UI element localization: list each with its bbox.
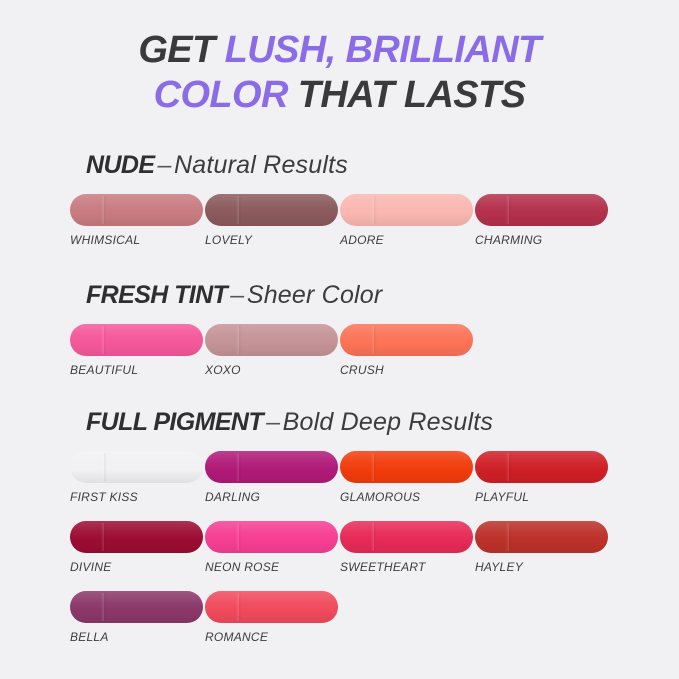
swatch-chip[interactable] — [475, 521, 608, 553]
swatch-item[interactable]: BELLA — [70, 591, 204, 644]
swatch-item[interactable]: FIRST KISS — [70, 451, 204, 504]
section-header-full-pigment: FULL PIGMENT–Bold Deep Results — [0, 407, 679, 437]
swatch-grid-full-pigment: FIRST KISS DARLING GLAMOROUS PLAYFUL DIV… — [0, 451, 679, 661]
swatch-label: FIRST KISS — [70, 490, 204, 504]
swatch-item[interactable]: PLAYFUL — [475, 451, 609, 504]
swatch-chip[interactable] — [205, 194, 338, 226]
swatch-label: GLAMOROUS — [340, 490, 474, 504]
swatch-item[interactable]: BEAUTIFUL — [70, 324, 204, 377]
swatch-item[interactable]: CRUSH — [340, 324, 474, 377]
swatch-label: NEON ROSE — [205, 560, 339, 574]
swatch-chip[interactable] — [340, 451, 473, 483]
swatch-label: ADORE — [340, 233, 474, 247]
swatch-label: WHIMSICAL — [70, 233, 204, 247]
section-dash: – — [263, 408, 283, 436]
swatch-label: XOXO — [205, 363, 339, 377]
swatch-grid-fresh-tint: BEAUTIFUL XOXO CRUSH — [0, 324, 679, 394]
section-nude: NUDE–Natural Results WHIMSICAL LOVELY AD… — [0, 150, 679, 264]
swatch-chip[interactable] — [70, 194, 203, 226]
section-header-nude: NUDE–Natural Results — [0, 150, 679, 180]
swatch-chip[interactable] — [205, 521, 338, 553]
swatch-label: HAYLEY — [475, 560, 609, 574]
swatch-chip[interactable] — [70, 591, 203, 623]
swatch-chip[interactable] — [475, 194, 608, 226]
swatch-chip[interactable] — [475, 451, 608, 483]
swatch-label: BELLA — [70, 630, 204, 644]
swatch-item[interactable]: SWEETHEART — [340, 521, 474, 574]
swatch-chip[interactable] — [340, 521, 473, 553]
swatch-item[interactable]: CHARMING — [475, 194, 609, 247]
section-dash: – — [154, 151, 174, 179]
swatch-item[interactable]: GLAMOROUS — [340, 451, 474, 504]
swatch-chip[interactable] — [205, 591, 338, 623]
swatch-item[interactable]: LOVELY — [205, 194, 339, 247]
headline-that-lasts: THAT LASTS — [288, 74, 526, 116]
swatch-chip[interactable] — [70, 324, 203, 356]
swatch-label: SWEETHEART — [340, 560, 474, 574]
swatch-label: ROMANCE — [205, 630, 339, 644]
swatch-item[interactable]: ROMANCE — [205, 591, 339, 644]
section-subtitle: Sheer Color — [247, 281, 383, 309]
swatch-item[interactable]: HAYLEY — [475, 521, 609, 574]
shade-chart-page: GET LUSH, BRILLIANT COLOR THAT LASTS NUD… — [0, 0, 679, 679]
swatch-label: DIVINE — [70, 560, 204, 574]
headline-line-2: COLOR THAT LASTS — [0, 73, 679, 118]
section-header-fresh-tint: FRESH TINT–Sheer Color — [0, 280, 679, 310]
swatch-chip[interactable] — [205, 451, 338, 483]
section-full-pigment: FULL PIGMENT–Bold Deep Results FIRST KIS… — [0, 407, 679, 661]
swatch-label: DARLING — [205, 490, 339, 504]
headline-lush-brilliant: LUSH, BRILLIANT — [225, 29, 541, 71]
swatch-item[interactable]: NEON ROSE — [205, 521, 339, 574]
swatch-label: PLAYFUL — [475, 490, 609, 504]
swatch-grid-nude: WHIMSICAL LOVELY ADORE CHARMING — [0, 194, 679, 264]
swatch-chip[interactable] — [205, 324, 338, 356]
swatch-label: CRUSH — [340, 363, 474, 377]
headline-get: GET — [138, 29, 224, 71]
swatch-item[interactable]: XOXO — [205, 324, 339, 377]
swatch-label: BEAUTIFUL — [70, 363, 204, 377]
page-title: GET LUSH, BRILLIANT COLOR THAT LASTS — [0, 28, 679, 118]
headline-color: COLOR — [154, 74, 288, 116]
swatch-chip[interactable] — [340, 324, 473, 356]
section-title: NUDE — [86, 151, 154, 179]
headline-line-1: GET LUSH, BRILLIANT — [0, 28, 679, 73]
section-fresh-tint: FRESH TINT–Sheer Color BEAUTIFUL XOXO CR… — [0, 280, 679, 394]
swatch-item[interactable]: ADORE — [340, 194, 474, 247]
swatch-item[interactable]: DARLING — [205, 451, 339, 504]
swatch-label: LOVELY — [205, 233, 339, 247]
swatch-item[interactable]: DIVINE — [70, 521, 204, 574]
section-subtitle: Bold Deep Results — [283, 408, 493, 436]
swatch-chip[interactable] — [70, 451, 203, 483]
swatch-label: CHARMING — [475, 233, 609, 247]
section-subtitle: Natural Results — [174, 151, 348, 179]
section-title: FULL PIGMENT — [86, 408, 263, 436]
section-dash: – — [227, 281, 247, 309]
section-title: FRESH TINT — [86, 281, 227, 309]
swatch-chip[interactable] — [70, 521, 203, 553]
swatch-chip[interactable] — [340, 194, 473, 226]
swatch-item[interactable]: WHIMSICAL — [70, 194, 204, 247]
